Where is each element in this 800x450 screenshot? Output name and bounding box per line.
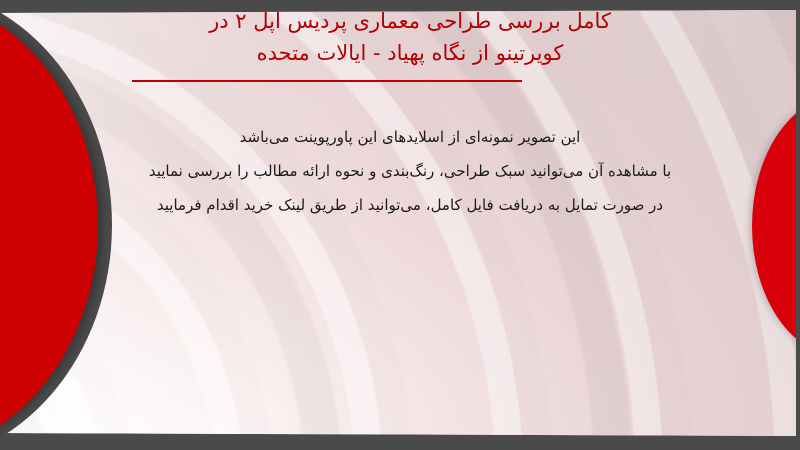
slide-title: کامل بررسی طراحی معماری پردیس اپل ۲ در ک… — [80, 5, 740, 69]
title-underline-rule — [132, 80, 522, 82]
slide-title-line-1: کامل بررسی طراحی معماری پردیس اپل ۲ در — [80, 5, 740, 37]
slide-body-text: این تصویر نمونه‌ای از اسلایدهای این پاور… — [60, 120, 760, 222]
slide-frame-bottom — [0, 434, 800, 450]
slide-body-line-1: این تصویر نمونه‌ای از اسلایدهای این پاور… — [60, 120, 760, 154]
slide-body-line-3: در صورت تمایل به دریافت فایل کامل، می‌تو… — [60, 188, 760, 222]
slide-body-line-2: با مشاهده آن می‌توانید سبک طراحی، رنگ‌بن… — [60, 154, 760, 188]
presentation-slide: کامل بررسی طراحی معماری پردیس اپل ۲ در ک… — [0, 0, 800, 450]
slide-title-line-2: کویرتینو از نگاه پهیاد - ایالات متحده — [80, 37, 740, 69]
slide-frame-right — [796, 0, 800, 450]
